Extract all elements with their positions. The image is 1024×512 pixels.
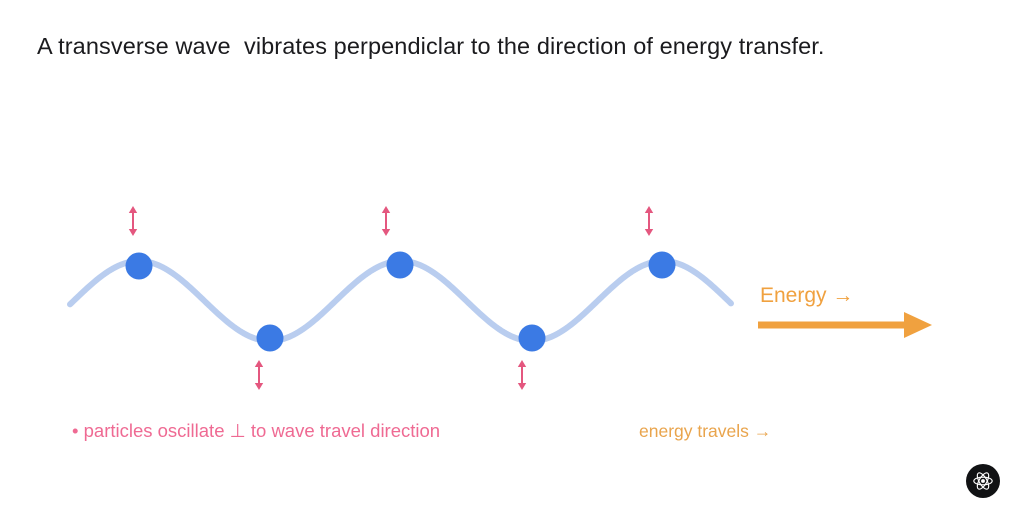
wave-particle-3 xyxy=(387,252,414,279)
oscillation-arrow-5 xyxy=(645,206,653,236)
wave-particle-4 xyxy=(519,325,546,352)
atom-logo-badge xyxy=(966,464,1000,498)
oscillation-arrow-2 xyxy=(255,360,263,390)
energy-label: Energy → xyxy=(760,284,853,308)
energy-arrow-head xyxy=(904,312,932,338)
caption-energy-travels: energy travels → xyxy=(639,421,771,442)
wave-particle-1 xyxy=(126,253,153,280)
atom-icon xyxy=(972,470,994,492)
oscillation-arrow-3 xyxy=(382,206,390,236)
energy-direction-arrow xyxy=(758,312,932,338)
oscillation-arrows-group xyxy=(129,206,653,390)
oscillation-arrow-1 xyxy=(129,206,137,236)
wave-particle-2 xyxy=(257,325,284,352)
oscillation-arrow-4 xyxy=(518,360,526,390)
slide-canvas: A transverse wave vibrates perpendiclar … xyxy=(0,0,1024,512)
caption-particles-oscillate: • particles oscillate ⊥ to wave travel d… xyxy=(72,420,440,442)
wave-particle-5 xyxy=(649,252,676,279)
